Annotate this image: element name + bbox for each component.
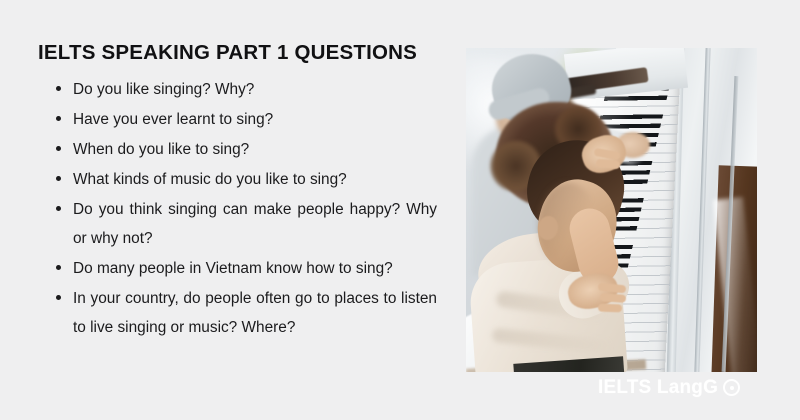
question-text: Do you like singing? Why? bbox=[73, 81, 254, 98]
piano-photo bbox=[466, 48, 757, 372]
bullet-dot-icon bbox=[56, 265, 61, 270]
girl-finger bbox=[600, 293, 626, 303]
question-text: Have you ever learnt to sing? bbox=[73, 111, 273, 128]
question-text: Do many people in Vietnam know how to si… bbox=[73, 260, 393, 277]
question-text: What kinds of music do you like to sing? bbox=[73, 171, 347, 188]
page-title: IELTS SPEAKING PART 1 QUESTIONS bbox=[38, 40, 438, 66]
bullet-dot-icon bbox=[56, 176, 61, 181]
list-item: Do many people in Vietnam know how to si… bbox=[38, 254, 437, 283]
question-text: In your country, do people often go to p… bbox=[73, 290, 437, 336]
list-item: When do you like to sing? bbox=[38, 135, 437, 164]
question-text: When do you like to sing? bbox=[73, 141, 249, 158]
list-item: In your country, do people often go to p… bbox=[38, 284, 437, 342]
questions-list: Do you like singing? Why? Have you ever … bbox=[38, 75, 438, 342]
girl-finger bbox=[598, 304, 622, 313]
bullet-dot-icon bbox=[56, 86, 61, 91]
list-item: Do you think singing can make people hap… bbox=[38, 195, 437, 253]
brand-logo: IELTS LangG bbox=[598, 377, 740, 398]
list-item: Do you like singing? Why? bbox=[38, 75, 437, 104]
target-o-icon bbox=[723, 379, 740, 396]
list-item: What kinds of music do you like to sing? bbox=[38, 165, 437, 194]
question-text: Do you think singing can make people hap… bbox=[73, 201, 437, 247]
content-column: IELTS SPEAKING PART 1 QUESTIONS Do you l… bbox=[38, 40, 438, 343]
bullet-dot-icon bbox=[56, 116, 61, 121]
brand-logo-text: IELTS LangG bbox=[598, 377, 718, 398]
bullet-dot-icon bbox=[56, 146, 61, 151]
bullet-dot-icon bbox=[56, 295, 61, 300]
bullet-dot-icon bbox=[56, 206, 61, 211]
list-item: Have you ever learnt to sing? bbox=[38, 105, 437, 134]
slide-canvas: IELTS SPEAKING PART 1 QUESTIONS Do you l… bbox=[0, 0, 800, 420]
